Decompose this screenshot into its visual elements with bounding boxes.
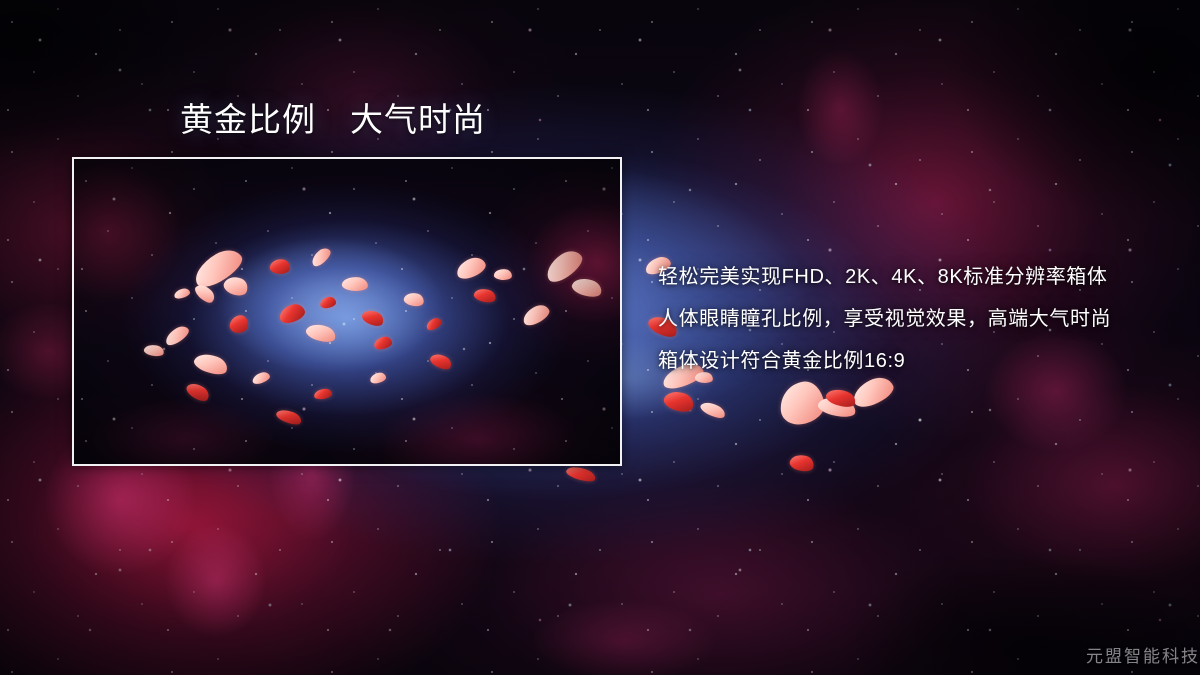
rose-petal (788, 452, 815, 474)
rose-petal (824, 386, 857, 410)
rose-petal (565, 464, 597, 485)
slide-canvas: 黄金比例 大气时尚 轻松完美实现FHD、2K、4K、8K标准分辨率箱体 人体眼睛… (0, 0, 1200, 675)
page-title: 黄金比例 大气时尚 (180, 101, 486, 140)
rose-petal (699, 399, 728, 421)
body-line-1: 轻松完美实现FHD、2K、4K、8K标准分辨率箱体 (658, 256, 1158, 298)
rose-petal (816, 394, 857, 421)
panel-nebula-background (74, 159, 620, 464)
body-line-3: 箱体设计符合黄金比例16:9 (658, 340, 1158, 382)
brand-watermark: 元盟智能科技 (1086, 642, 1200, 667)
media-panel-frame[interactable] (72, 157, 622, 466)
rose-petal (777, 379, 826, 427)
rose-petal (662, 387, 697, 415)
body-text-block: 轻松完美实现FHD、2K、4K、8K标准分辨率箱体 人体眼睛瞳孔比例，享受视觉效… (658, 256, 1158, 382)
body-line-2: 人体眼睛瞳孔比例，享受视觉效果，高端大气时尚 (658, 298, 1158, 340)
media-panel-content (74, 159, 620, 464)
